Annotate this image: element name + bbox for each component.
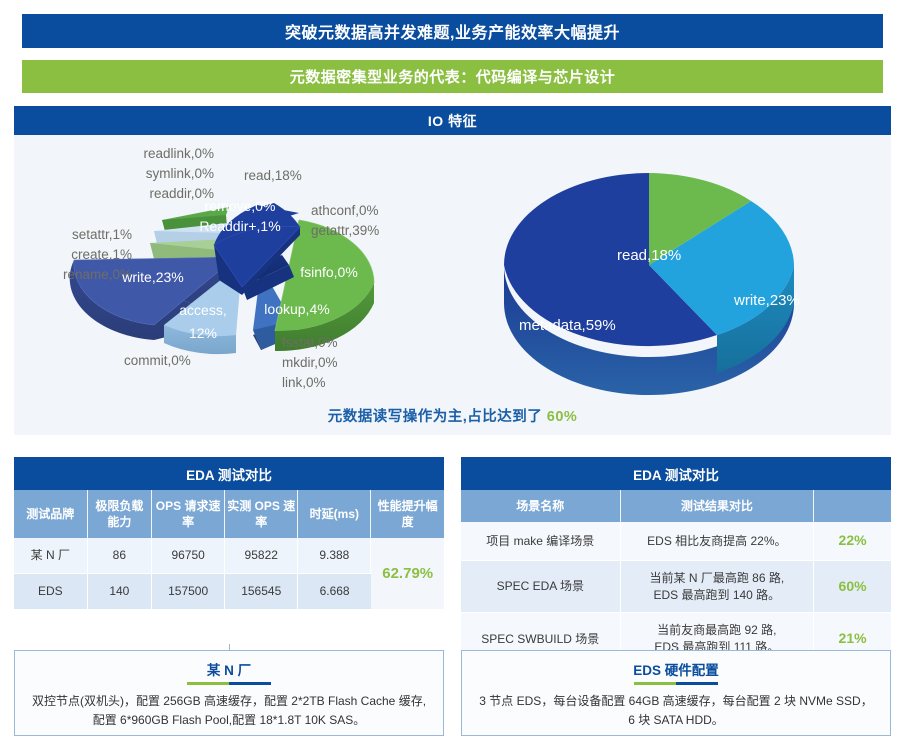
cell-opsreq-1: 157500 [152, 574, 225, 610]
slide-page: 突破元数据高并发难题,业务产能效率大幅提升 元数据密集型业务的代表：代码编译与芯… [0, 0, 905, 754]
eda-comparison-table-right: EDA 测试对比 场景名称 测试结果对比 项目 make 编译场景 EDS 相比… [461, 457, 891, 666]
table-left-title: EDA 测试对比 [14, 457, 444, 490]
pie-label-symlink: symlink,0% [146, 166, 214, 181]
cell-opsmeas-0: 95822 [225, 538, 298, 573]
th-ops-request: OPS 请求速率 [152, 490, 225, 538]
th-ops-measured: 实测 OPS 速率 [225, 490, 298, 538]
cell-opsmeas-1: 156545 [225, 574, 298, 610]
th-max-load: 极限负载能力 [87, 490, 152, 538]
table-right-header-row: 场景名称 测试结果对比 [461, 490, 891, 522]
th-brand: 测试品牌 [14, 490, 87, 538]
th-pct [814, 490, 891, 522]
config-box-left: 某 N 厂 双控节点(双机头)，配置 256GB 高速缓存，配置 2*2TB F… [14, 650, 444, 736]
pie-label-remove: remove,0% [205, 198, 276, 214]
table-right-title: EDA 测试对比 [461, 457, 891, 490]
pie-label-athconf: athconf,0% [311, 203, 379, 218]
pie-label-lookup: lookup,4% [264, 301, 329, 317]
pie-label-fsstat: fsstat,0% [282, 335, 338, 350]
cell-gain: 62.79% [371, 538, 444, 609]
table-row: SPEC EDA 场景 当前某 N 厂最高跑 86 路, EDS 最高跑到 14… [461, 560, 891, 613]
pie-label-getattr: getattr,39% [311, 223, 379, 238]
cell-load-0: 86 [87, 538, 152, 573]
cell-pct-1: 60% [814, 560, 891, 613]
th-latency: 时延(ms) [298, 490, 371, 538]
th-gain: 性能提升幅度 [371, 490, 444, 538]
chart-caption-text: 元数据读写操作为主,占比达到了 [328, 409, 547, 425]
pie-label-commit: commit,0% [124, 353, 191, 368]
eda-comparison-table-left: EDA 测试对比 测试品牌 极限负载能力 OPS 请求速率 实测 OPS 速率 … [14, 457, 444, 610]
table-right: 场景名称 测试结果对比 项目 make 编译场景 EDS 相比友商提高 22%。… [461, 490, 891, 666]
cell-latency-0: 9.388 [298, 538, 371, 573]
main-title-banner: 突破元数据高并发难题,业务产能效率大幅提升 [22, 14, 883, 48]
th-test-result: 测试结果对比 [620, 490, 814, 522]
chart-caption: 元数据读写操作为主,占比达到了 60% [14, 405, 891, 426]
pie-summary-label-read: read,18% [617, 247, 681, 264]
cell-scene-0: 项目 make 编译场景 [461, 522, 620, 560]
table-left-header-row: 测试品牌 极限负载能力 OPS 请求速率 实测 OPS 速率 时延(ms) 性能… [14, 490, 444, 538]
cell-brand-0: 某 N 厂 [14, 538, 87, 573]
table-row: 项目 make 编译场景 EDS 相比友商提高 22%。 22% [461, 522, 891, 560]
io-operations-pie-chart: readlink,0% symlink,0% readdir,0% setatt… [14, 135, 469, 435]
pie-label-fsinfo: fsinfo,0% [300, 264, 358, 280]
cell-brand-1: EDS [14, 574, 87, 610]
cell-scene-1: SPEC EDA 场景 [461, 560, 620, 613]
chart-caption-highlight: 60% [547, 409, 578, 425]
config-left-divider [187, 682, 271, 685]
cell-result-1: 当前某 N 厂最高跑 86 路, EDS 最高跑到 140 路。 [620, 560, 814, 613]
pie-label-access-value: 12% [189, 325, 217, 341]
pie-summary-label-write: write,23% [733, 292, 800, 309]
io-summary-pie-chart: read,18% write,23% metadata,59% [469, 135, 891, 435]
config-right-title: EDS 硬件配置 [476, 659, 876, 682]
cell-result-0: EDS 相比友商提高 22%。 [620, 522, 814, 560]
pie-label-mkdir: mkdir,0% [282, 355, 338, 370]
th-scene-name: 场景名称 [461, 490, 620, 522]
config-left-body: 双控节点(双机头)，配置 256GB 高速缓存，配置 2*2TB Flash C… [29, 692, 429, 730]
pie-label-read: read,18% [244, 168, 302, 183]
cell-load-1: 140 [87, 574, 152, 610]
section-header-io: IO 特征 [14, 106, 891, 135]
pie-summary-label-metadata: metadata,59% [519, 317, 616, 334]
subtitle-banner: 元数据密集型业务的代表：代码编译与芯片设计 [22, 60, 883, 93]
cell-pct-0: 22% [814, 522, 891, 560]
table-row: 某 N 厂 86 96750 95822 9.388 62.79% [14, 538, 444, 573]
config-right-body: 3 节点 EDS，每台设备配置 64GB 高速缓存，每台配置 2 块 NVMe … [476, 692, 876, 730]
table-left: 测试品牌 极限负载能力 OPS 请求速率 实测 OPS 速率 时延(ms) 性能… [14, 490, 444, 610]
config-right-divider [634, 682, 718, 685]
pie-label-write: write,23% [121, 269, 183, 285]
pie-label-setattr: setattr,1% [72, 227, 132, 242]
pie-label-create: create,1% [71, 247, 132, 262]
cell-latency-1: 6.668 [298, 574, 371, 610]
pie-label-access: access, [179, 302, 226, 318]
pie-label-readdirplus: Readdir+,1% [199, 218, 280, 234]
io-chart-panel: readlink,0% symlink,0% readdir,0% setatt… [14, 135, 891, 435]
config-left-title: 某 N 厂 [29, 659, 429, 682]
cell-opsreq-0: 96750 [152, 538, 225, 573]
pie-label-readlink: readlink,0% [143, 146, 214, 161]
pie-label-link: link,0% [282, 375, 326, 390]
config-box-right: EDS 硬件配置 3 节点 EDS，每台设备配置 64GB 高速缓存，每台配置 … [461, 650, 891, 736]
